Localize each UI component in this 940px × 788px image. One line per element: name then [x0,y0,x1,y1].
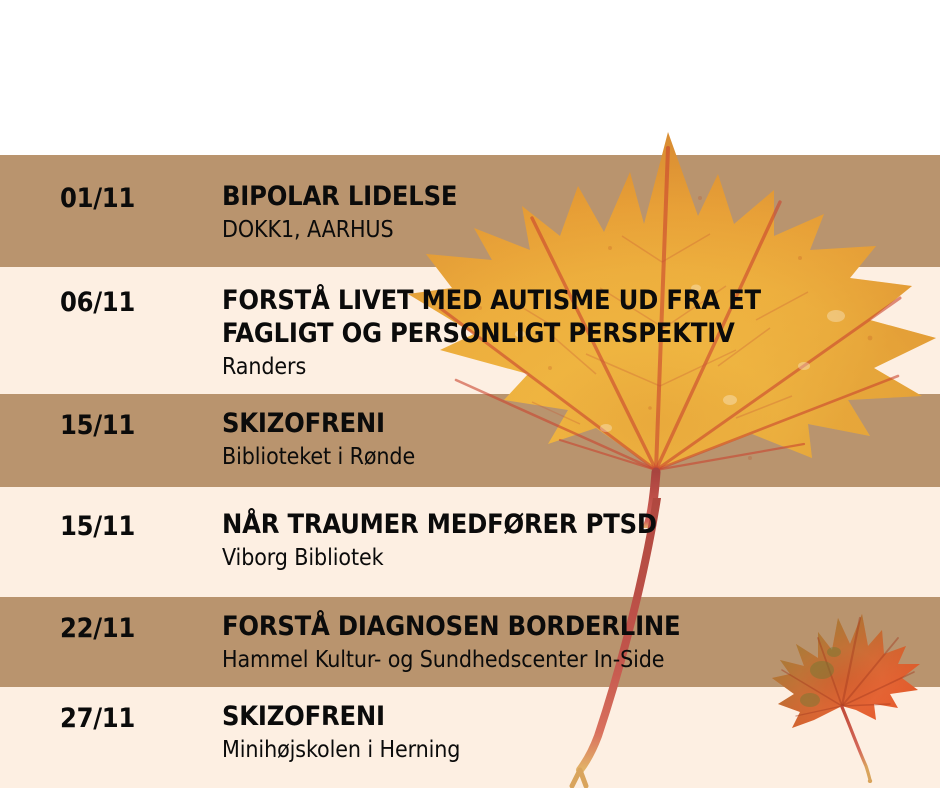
event-title: BIPOLAR LIDELSE [222,181,940,214]
event-date: 15/11 [60,410,135,441]
event-date: 15/11 [60,511,135,542]
list-item: 22/11 FORSTÅ DIAGNOSEN BORDERLINE Hammel… [0,597,940,687]
poster-canvas: Temaaftener i november [0,0,940,788]
event-body: BIPOLAR LIDELSE DOKK1, AARHUS [222,181,940,245]
event-venue: Viborg Bibliotek [222,545,940,573]
event-title: NÅR TRAUMER MEDFØRER PTSD [222,509,940,542]
event-date: 22/11 [60,613,135,644]
list-item: 01/11 BIPOLAR LIDELSE DOKK1, AARHUS [0,155,940,267]
event-body: FORSTÅ LIVET MED AUTISME UD FRA ET FAGLI… [222,285,940,381]
event-list: 01/11 BIPOLAR LIDELSE DOKK1, AARHUS 06/1… [0,0,940,788]
event-venue: Hammel Kultur- og Sundhedscenter In-Side [222,647,940,675]
event-venue: Minihøjskolen i Herning [222,737,940,765]
list-item: 15/11 NÅR TRAUMER MEDFØRER PTSD Viborg B… [0,487,940,597]
list-item: 06/11 FORSTÅ LIVET MED AUTISME UD FRA ET… [0,267,940,394]
event-title: FORSTÅ LIVET MED AUTISME UD FRA ET FAGLI… [222,285,940,351]
list-item: 15/11 SKIZOFRENI Biblioteket i Rønde [0,394,940,487]
event-venue: DOKK1, AARHUS [222,217,940,245]
event-body: SKIZOFRENI Biblioteket i Rønde [222,408,940,472]
event-venue: Biblioteket i Rønde [222,444,940,472]
event-title: FORSTÅ DIAGNOSEN BORDERLINE [222,611,940,644]
event-venue: Randers [222,354,940,382]
event-body: FORSTÅ DIAGNOSEN BORDERLINE Hammel Kultu… [222,611,940,675]
event-date: 27/11 [60,703,135,734]
event-date: 01/11 [60,183,135,214]
event-title: SKIZOFRENI [222,408,940,441]
event-body: SKIZOFRENI Minihøjskolen i Herning [222,701,940,765]
list-item: 27/11 SKIZOFRENI Minihøjskolen i Herning [0,687,940,788]
event-date: 06/11 [60,287,135,318]
event-title: SKIZOFRENI [222,701,940,734]
event-body: NÅR TRAUMER MEDFØRER PTSD Viborg Bibliot… [222,509,940,573]
